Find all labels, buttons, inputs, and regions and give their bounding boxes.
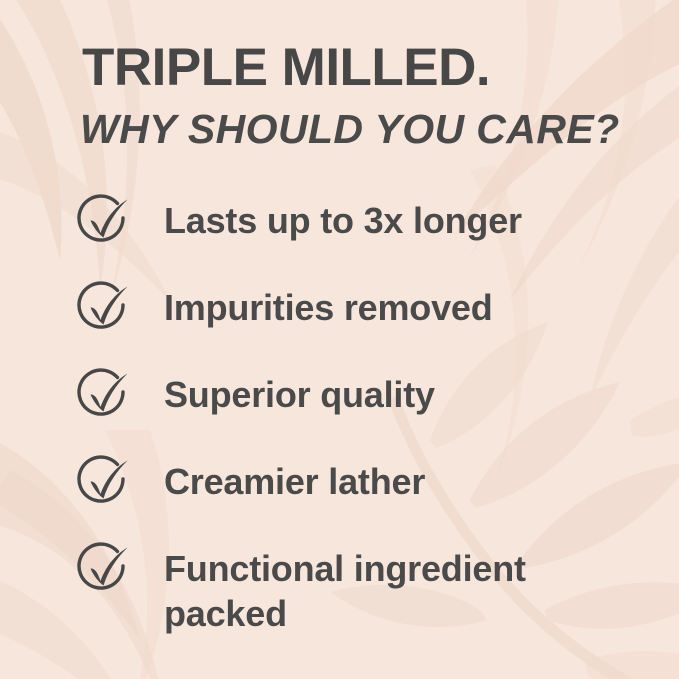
list-item: Creamier lather — [76, 453, 646, 540]
list-item: Lasts up to 3x longer — [76, 192, 646, 279]
list-item: Superior quality — [76, 366, 646, 453]
poster-content: TRIPLE MILLED. WHY SHOULD YOU CARE? Last… — [0, 0, 679, 679]
benefit-label: Superior quality — [164, 372, 646, 417]
check-circle-icon — [76, 542, 132, 598]
check-circle-icon — [76, 281, 132, 337]
benefit-list: Lasts up to 3x longer Impurities removed… — [76, 192, 646, 627]
check-circle-icon — [76, 455, 132, 511]
benefit-label: Functional ingredient packed — [164, 546, 646, 636]
page-title: TRIPLE MILLED. — [82, 41, 490, 94]
benefit-label: Lasts up to 3x longer — [164, 198, 646, 243]
page-subtitle: WHY SHOULD YOU CARE? — [80, 109, 620, 150]
check-circle-icon — [76, 368, 132, 424]
triple-milled-benefits-poster: TRIPLE MILLED. WHY SHOULD YOU CARE? Last… — [0, 0, 679, 679]
check-circle-icon — [76, 194, 132, 250]
list-item: Impurities removed — [76, 279, 646, 366]
benefit-label: Creamier lather — [164, 459, 646, 504]
benefit-label: Impurities removed — [164, 285, 646, 330]
list-item: Functional ingredient packed — [76, 540, 646, 627]
